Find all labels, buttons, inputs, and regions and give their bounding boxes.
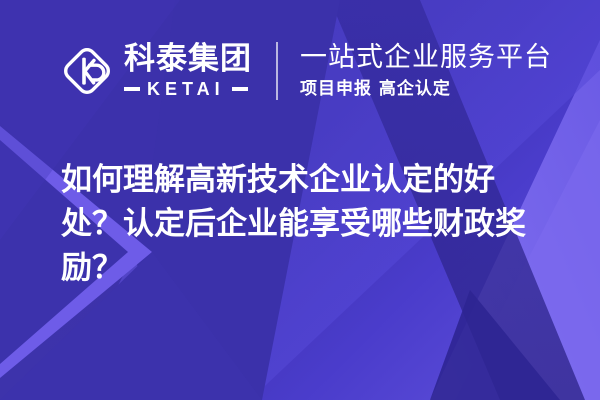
dash-icon (124, 87, 140, 91)
brand-name-chinese: 科泰集团 (124, 44, 252, 75)
brand-name-english-row: KETAI (124, 80, 252, 98)
slogan-sub-text: 项目申报 高企认定 (300, 79, 552, 99)
brand-wordmark: 科泰集团 KETAI (124, 44, 252, 98)
vertical-divider-icon (276, 42, 278, 100)
page-title: 如何理解高新技术企业认定的好处？认定后企业能享受哪些财政奖励？ (61, 158, 553, 290)
dash-icon (232, 87, 248, 91)
slogan-main-text: 一站式企业服务平台 (300, 43, 552, 73)
brand-name-english: KETAI (147, 80, 225, 98)
banner-header: 科泰集团 KETAI 一站式企业服务平台 项目申报 高企认定 (60, 36, 552, 106)
brand-logo[interactable]: 科泰集团 KETAI (60, 44, 252, 98)
ketai-diamond-k-logo-icon (60, 44, 114, 98)
promo-banner: 科泰集团 KETAI 一站式企业服务平台 项目申报 高企认定 如何理解高新技术企… (0, 0, 600, 400)
slogan-block: 一站式企业服务平台 项目申报 高企认定 (300, 43, 552, 100)
